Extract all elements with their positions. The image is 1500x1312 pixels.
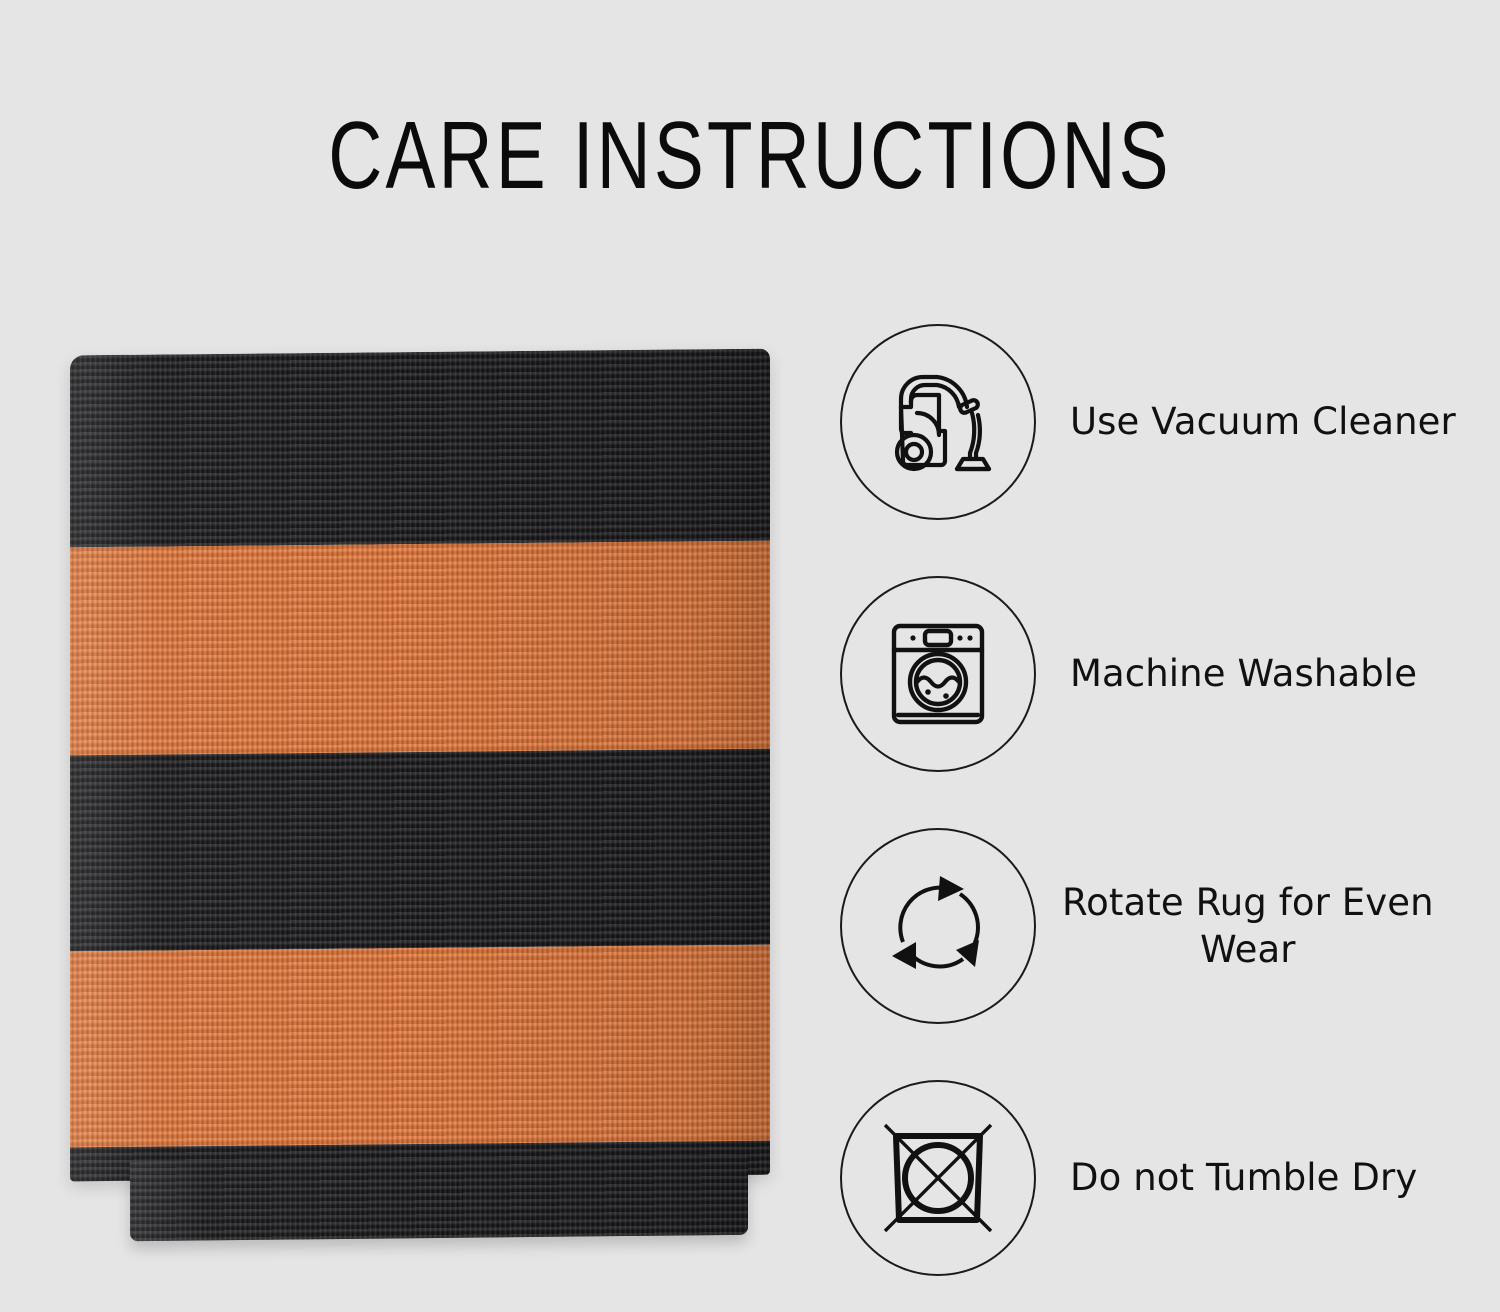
rug-folded-hem (130, 1155, 748, 1241)
rug-stripe-black-2 (70, 749, 770, 952)
instruction-row-no-tumble-dry: Do not Tumble Dry (840, 1052, 1480, 1304)
instruction-list: Use Vacuum Cleaner (840, 296, 1480, 1304)
rug-hem-weave-horizontal (130, 1155, 748, 1241)
rug-stripe-orange-2 (70, 945, 770, 1148)
rug-hem-shading (130, 1155, 748, 1241)
instruction-label-rotate-line-1: Rotate Rug for Even (1062, 879, 1434, 926)
rug-hem-weave-vertical (130, 1155, 748, 1241)
instruction-label-vacuum: Use Vacuum Cleaner (1070, 398, 1456, 445)
rug-stripe-orange-1 (70, 541, 770, 756)
instruction-label-rotate-line-2: Wear (1062, 926, 1434, 973)
rug-stripe-black-1 (70, 349, 770, 548)
vacuum-cleaner-icon (840, 324, 1036, 520)
product-image-folded-rug (62, 352, 772, 1262)
instruction-row-machine-wash: Machine Washable (840, 548, 1480, 800)
washing-machine-icon (840, 576, 1036, 772)
instruction-row-rotate: Rotate Rug for Even Wear (840, 800, 1480, 1052)
instruction-row-vacuum: Use Vacuum Cleaner (840, 296, 1480, 548)
page-title: CARE INSTRUCTIONS (165, 108, 1335, 204)
instruction-label-rotate: Rotate Rug for Even Wear (1062, 879, 1434, 974)
instruction-label-no-tumble-dry: Do not Tumble Dry (1070, 1154, 1417, 1201)
do-not-tumble-dry-icon (840, 1080, 1036, 1276)
instruction-label-machine-wash: Machine Washable (1070, 650, 1417, 697)
rug-body (70, 349, 770, 1182)
care-instructions-infographic: CARE INSTRUCTIONS (0, 0, 1500, 1312)
rotate-arrows-icon (840, 828, 1036, 1024)
